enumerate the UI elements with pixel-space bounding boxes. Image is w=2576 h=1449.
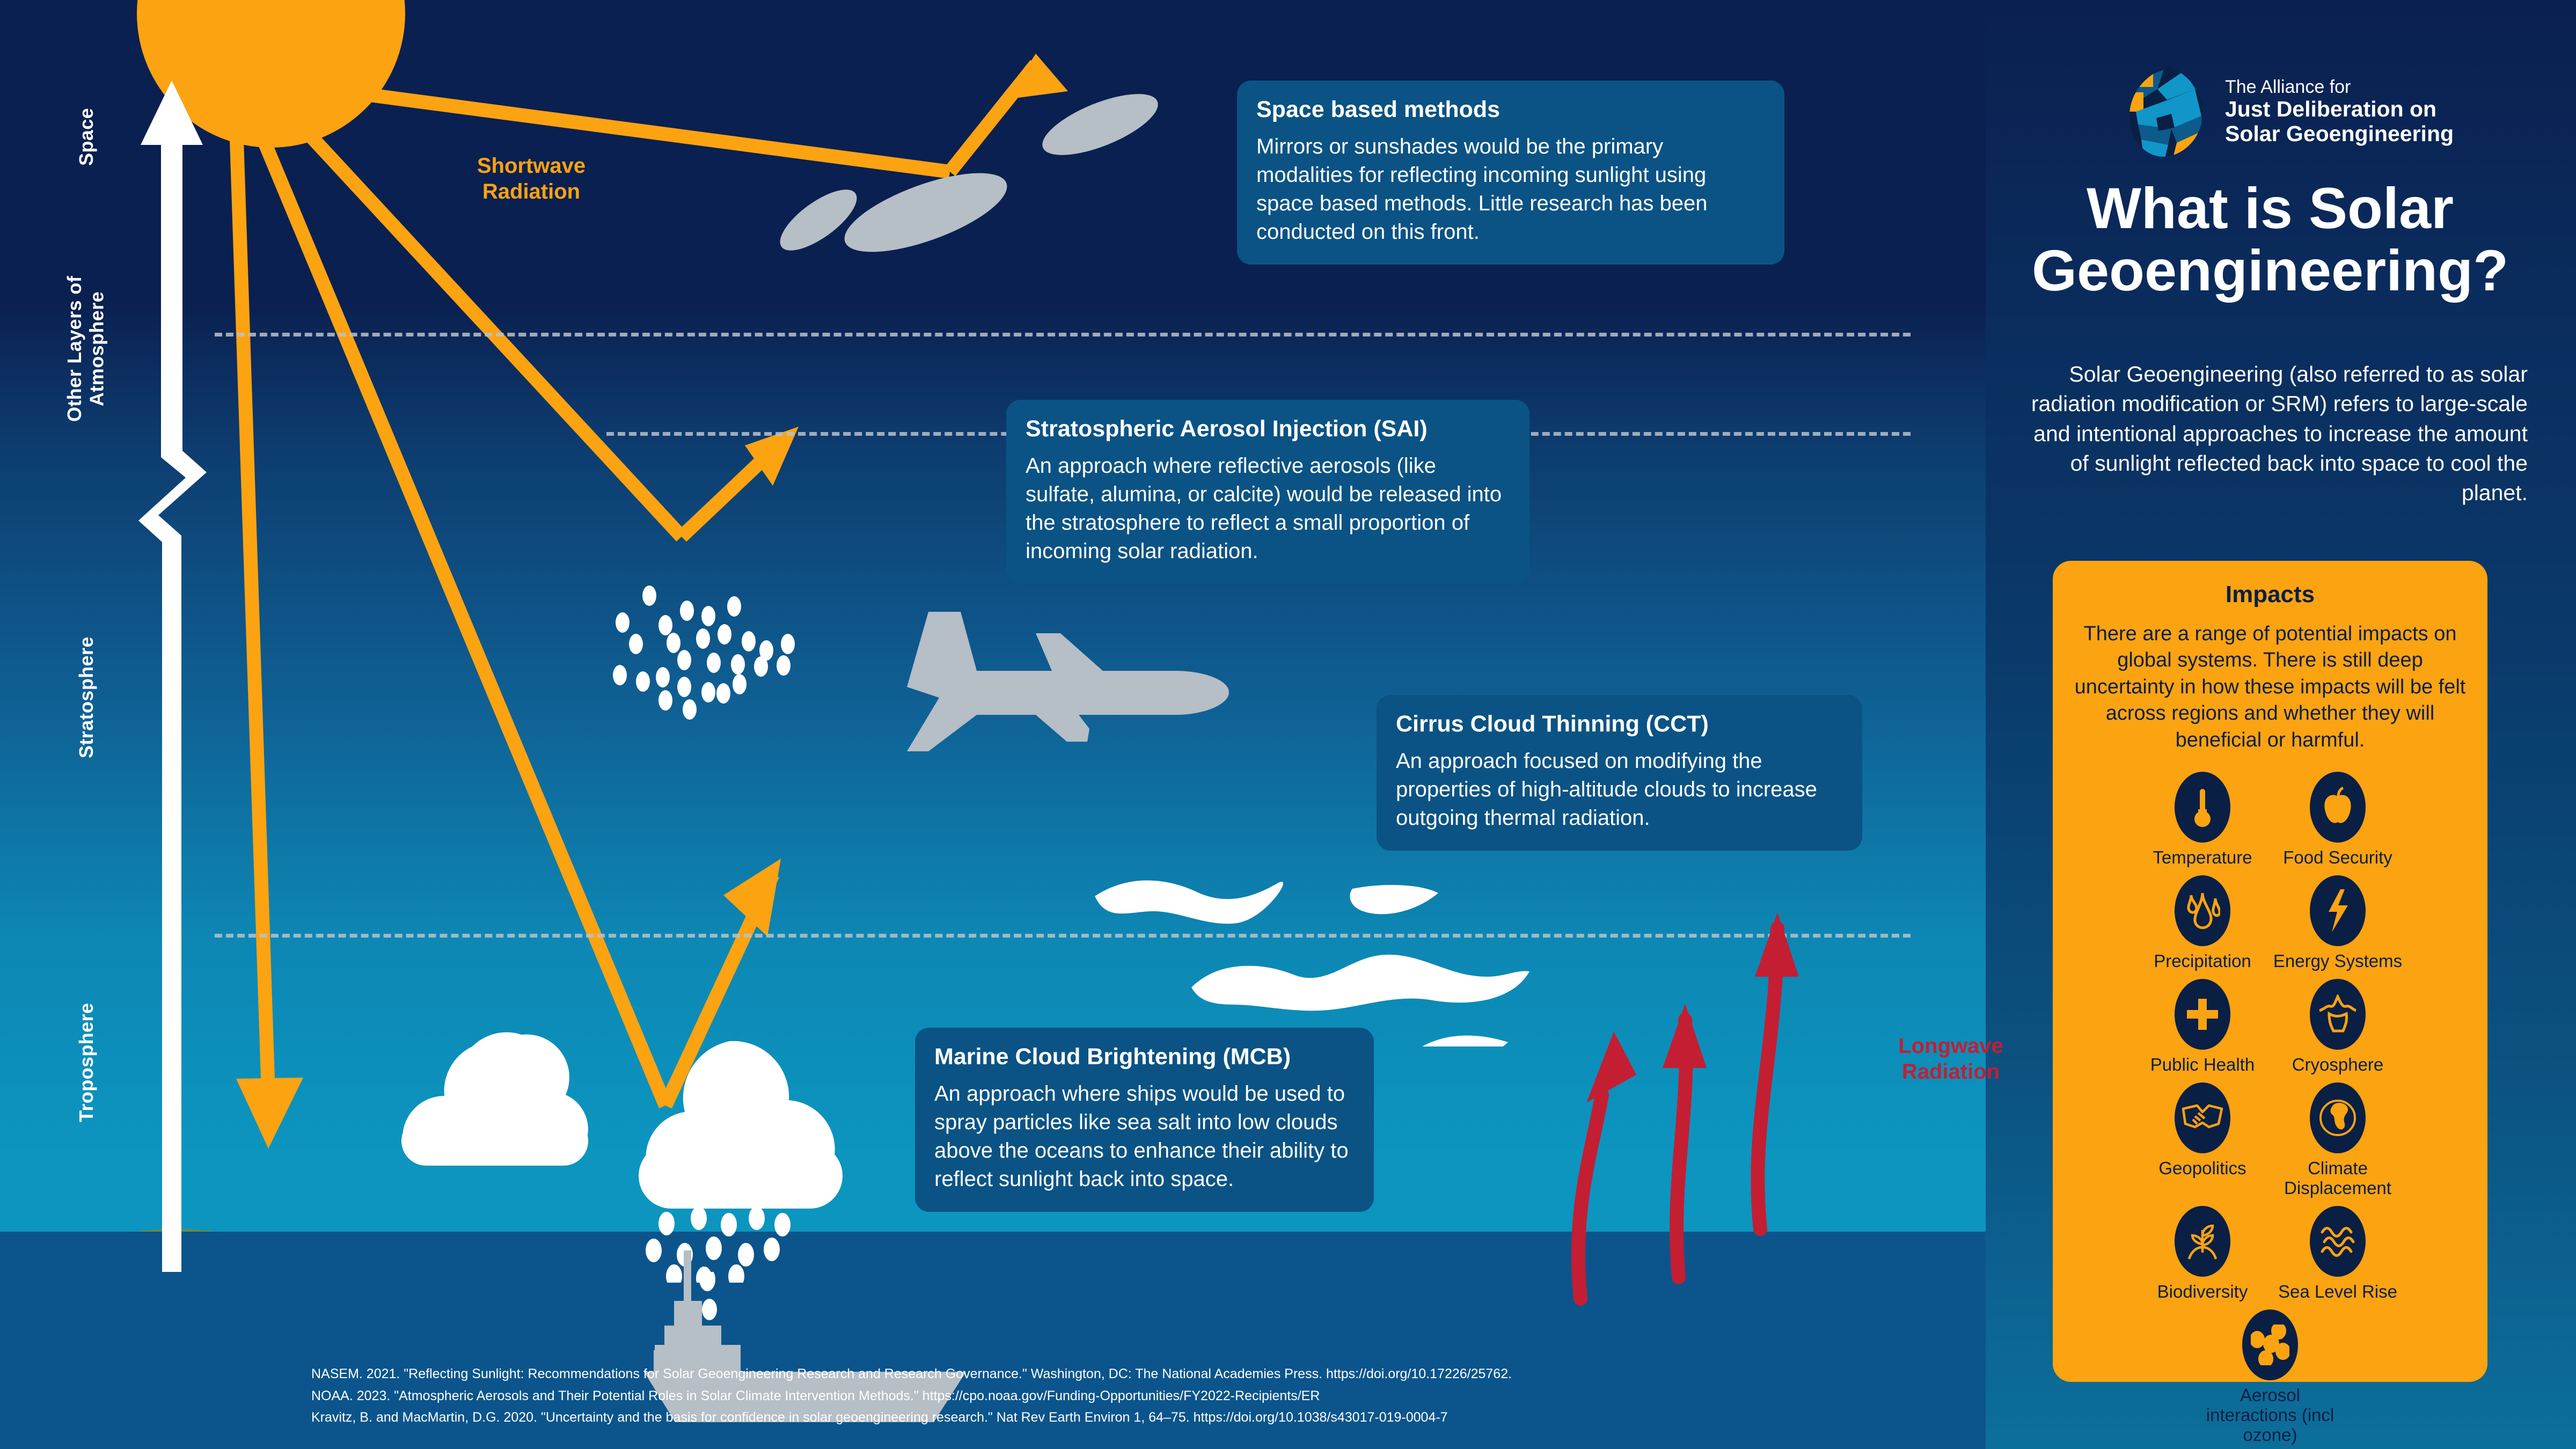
- raindrops-icon: [2175, 875, 2230, 946]
- brand-logo[interactable]: The Alliance for Just Deliberation on So…: [2125, 64, 2454, 158]
- impact-label: Public Health: [2150, 1055, 2255, 1075]
- waves-icon: [2310, 1206, 2366, 1277]
- cumulus-clouds: [370, 982, 918, 1283]
- globe-icon: [2310, 1082, 2366, 1153]
- impact-item-temperature[interactable]: Temperature: [2135, 772, 2270, 868]
- brand-logo-text: The Alliance for Just Deliberation on So…: [2225, 77, 2454, 147]
- impacts-panel: Impacts There are a range of potential i…: [2053, 561, 2487, 1382]
- impact-label: Climate Displacement: [2270, 1159, 2405, 1198]
- handshake-icon: [2175, 1082, 2230, 1153]
- citation-item: Kravitz, B. and MacMartin, D.G. 2020. "U…: [311, 1407, 1900, 1429]
- brand-line-2: Just Deliberation on: [2225, 97, 2454, 122]
- apple-icon: [2310, 772, 2366, 843]
- layer-label-space: Space: [75, 75, 97, 199]
- callout-body: Mirrors or sunshades would be the primar…: [1256, 133, 1765, 246]
- callout-mcb[interactable]: Marine Cloud Brightening (MCB) An approa…: [915, 1028, 1374, 1212]
- callout-title: Space based methods: [1256, 97, 1765, 123]
- page-title: What is Solar Geoengineering?: [1986, 177, 2555, 301]
- callout-space-based-methods[interactable]: Space based methods Mirrors or sunshades…: [1237, 80, 1784, 265]
- impacts-body: There are a range of potential impacts o…: [2071, 621, 2469, 753]
- sprout-icon: [2175, 1206, 2230, 1277]
- impacts-title: Impacts: [2068, 581, 2472, 608]
- impact-label: Biodiversity: [2157, 1282, 2248, 1302]
- alliance-leaf-mosaic-logo-icon: [2125, 64, 2211, 158]
- impact-item-geopolitics[interactable]: Geopolitics: [2135, 1082, 2270, 1198]
- impact-item-precipitation[interactable]: Precipitation: [2135, 875, 2270, 971]
- impact-label: Geopolitics: [2158, 1159, 2246, 1179]
- callout-body: An approach where reflective aerosols (l…: [1026, 452, 1510, 565]
- impact-item-public-health[interactable]: Public Health: [2135, 979, 2270, 1075]
- brand-line-1: The Alliance for: [2225, 77, 2454, 97]
- impact-label: Temperature: [2153, 848, 2252, 868]
- impact-item-energy-systems[interactable]: Energy Systems: [2270, 875, 2405, 971]
- layer-label-other-atmosphere: Other Layers of Atmosphere: [63, 236, 113, 462]
- callout-body: An approach focused on modifying the pro…: [1396, 747, 1843, 832]
- impacts-icon-grid: Temperature Food Security: [2068, 772, 2472, 1449]
- brand-line-3: Solar Geoengineering: [2225, 122, 2454, 147]
- altitude-arrow-icon: [134, 80, 209, 1272]
- impact-item-food-security[interactable]: Food Security: [2270, 772, 2405, 868]
- molecule-icon: [2242, 1309, 2298, 1380]
- shortwave-radiation-label: Shortwave Radiation: [453, 153, 609, 204]
- impact-item-aerosol-interactions[interactable]: Aerosol interactions (incl ozone): [2202, 1309, 2338, 1445]
- callout-body: An approach where ships would be used to…: [934, 1080, 1355, 1193]
- citation-item: NASEM. 2021. "Reflecting Sunlight: Recom…: [311, 1363, 1900, 1385]
- iceberg-icon: [2310, 979, 2366, 1050]
- divider-space-atmosphere: [215, 333, 1911, 336]
- intro-paragraph: Solar Geoengineering (also referred to a…: [2018, 360, 2528, 508]
- layer-label-troposphere: Troposphere: [75, 950, 97, 1175]
- impact-item-cryosphere[interactable]: Cryosphere: [2270, 979, 2405, 1075]
- impact-label: Energy Systems: [2273, 952, 2402, 971]
- impact-label: Sea Level Rise: [2278, 1282, 2397, 1302]
- callout-title: Cirrus Cloud Thinning (CCT): [1396, 711, 1843, 737]
- space-mirrors-icon: [767, 86, 1175, 268]
- callout-cct[interactable]: Cirrus Cloud Thinning (CCT) An approach …: [1377, 695, 1862, 851]
- citations-block: NASEM. 2021. "Reflecting Sunlight: Recom…: [311, 1363, 1900, 1429]
- infographic-canvas: Space Other Layers of Atmosphere Stratos…: [0, 0, 2576, 1449]
- impact-item-biodiversity[interactable]: Biodiversity: [2135, 1206, 2270, 1302]
- lightning-bolt-icon: [2310, 875, 2366, 946]
- impact-label: Precipitation: [2154, 952, 2251, 971]
- impact-label: Aerosol interactions (incl ozone): [2202, 1386, 2338, 1445]
- impact-item-sea-level-rise[interactable]: Sea Level Rise: [2270, 1206, 2405, 1302]
- thermometer-icon: [2175, 772, 2230, 843]
- impact-label: Food Security: [2283, 848, 2392, 868]
- callout-sai[interactable]: Stratospheric Aerosol Injection (SAI) An…: [1006, 400, 1529, 584]
- longwave-radiation-label: Longwave Radiation: [1873, 1033, 2029, 1085]
- impact-item-climate-displacement[interactable]: Climate Displacement: [2270, 1082, 2405, 1198]
- aerosol-particles: [601, 585, 966, 762]
- medical-cross-icon: [2175, 979, 2230, 1050]
- callout-title: Marine Cloud Brightening (MCB): [934, 1044, 1355, 1070]
- citation-item: NOAA. 2023. "Atmospheric Aerosols and Th…: [311, 1385, 1900, 1407]
- callout-title: Stratospheric Aerosol Injection (SAI): [1026, 416, 1510, 442]
- impact-label: Cryosphere: [2292, 1055, 2384, 1075]
- layer-label-stratosphere: Stratosphere: [75, 585, 97, 810]
